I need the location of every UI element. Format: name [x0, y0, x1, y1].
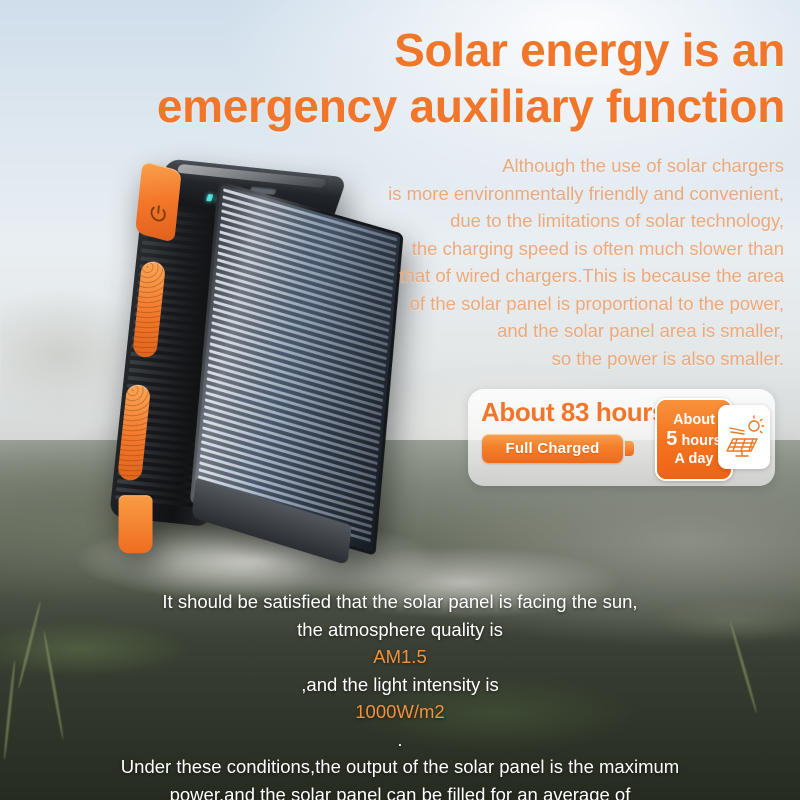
- headline-line-1: Solar energy is an: [45, 22, 785, 78]
- detail-text: It should be satisfied that the solar pa…: [0, 588, 800, 616]
- intro-line: due to the limitations of solar technolo…: [284, 207, 784, 235]
- detail-text: the atmosphere quality is: [0, 616, 800, 644]
- intro-line: is more environmentally friendly and con…: [284, 180, 784, 208]
- daybox-line-2: 5 hours: [666, 428, 721, 450]
- daybox-line-3: A day: [675, 451, 714, 467]
- battery-body: Full Charged: [482, 434, 623, 463]
- daybox-value: 5: [666, 428, 677, 450]
- power-button[interactable]: [135, 161, 182, 243]
- carabiner-strap: [119, 495, 153, 553]
- battery-label: Full Charged: [505, 440, 599, 457]
- charge-time-callout: About 83 hours Full Charged About 5 hour…: [468, 389, 775, 486]
- detail-paragraph: It should be satisfied that the solar pa…: [0, 588, 800, 800]
- detail-line: It should be satisfied that the solar pa…: [0, 588, 800, 616]
- detail-text: ,and the light intensity is: [0, 671, 800, 699]
- highlighted-value: AM1.5: [0, 643, 800, 671]
- highlighted-value: 1000W/m2: [0, 698, 800, 726]
- detail-text: Under these conditions,the output of the…: [0, 753, 800, 781]
- detail-text: power,and the solar panel can be filled …: [0, 781, 800, 800]
- detail-line: power,and the solar panel can be filled …: [0, 781, 800, 800]
- led-indicator: [206, 194, 213, 201]
- marketing-banner: Solar energy is an emergency auxiliary f…: [0, 0, 800, 800]
- headline-line-2: emergency auxiliary function: [45, 78, 785, 134]
- page-title: Solar energy is an emergency auxiliary f…: [45, 22, 785, 134]
- detail-line: Under these conditions,the output of the…: [0, 753, 800, 781]
- intro-paragraph: Although the use of solar chargers is mo…: [284, 152, 784, 372]
- intro-line: that of wired chargers.This is because t…: [284, 262, 784, 290]
- intro-line: Although the use of solar chargers: [284, 152, 784, 180]
- detail-text: .: [0, 726, 800, 754]
- daybox-line-1: About: [673, 412, 715, 428]
- intro-line: and the solar panel area is smaller,: [284, 317, 784, 345]
- intro-line: the charging speed is often much slower …: [284, 235, 784, 263]
- detail-line: the atmosphere quality is AM1.5,and the …: [0, 616, 800, 754]
- battery-terminal-icon: [625, 441, 634, 456]
- daybox-unit: hours: [681, 433, 721, 449]
- callout-title: About 83 hours: [481, 397, 666, 428]
- intro-line: so the power is also smaller.: [284, 345, 784, 373]
- full-charged-badge[interactable]: Full Charged: [482, 434, 634, 463]
- intro-line: of the solar panel is proportional to th…: [284, 290, 784, 318]
- solar-panel-sun-icon: [718, 405, 770, 469]
